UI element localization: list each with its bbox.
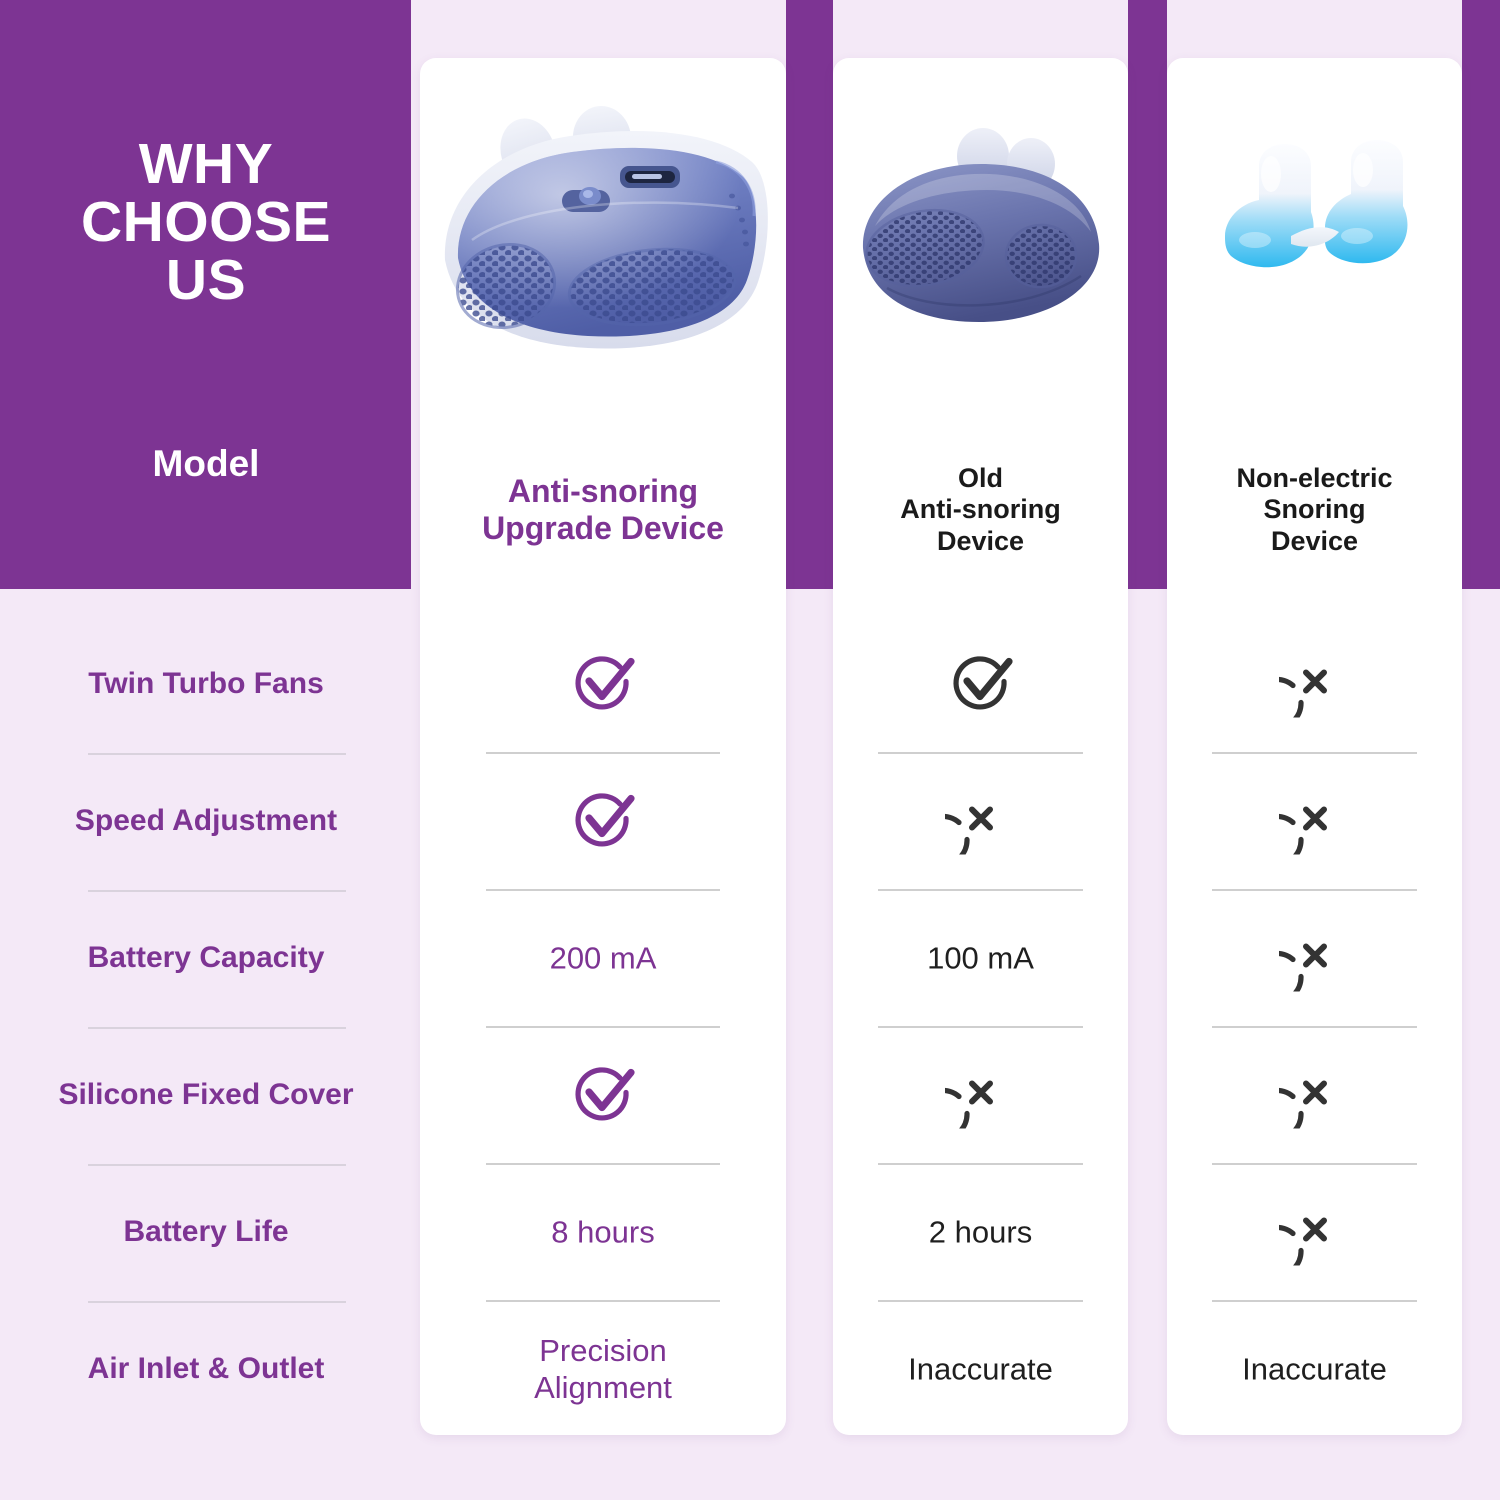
cell-old-3 xyxy=(833,1057,1128,1134)
page-title-line-3: US xyxy=(30,251,382,309)
cell-value-line: Inaccurate xyxy=(833,1350,1128,1387)
cell-upgrade-4: 8 hours xyxy=(420,1213,786,1250)
header-gutter-3 xyxy=(1462,0,1500,589)
cell-value-text: Inaccurate xyxy=(1167,1350,1462,1387)
header-gutter-2 xyxy=(1128,0,1167,589)
feature-row-separator xyxy=(88,890,346,892)
cell-old-4: 2 hours xyxy=(833,1213,1128,1250)
cross-circle-icon xyxy=(945,783,1017,855)
card-row-separator xyxy=(1212,1163,1417,1165)
card-row-separator xyxy=(486,1026,720,1028)
card-row-separator xyxy=(1212,752,1417,754)
feature-label-0: Twin Turbo Fans xyxy=(8,667,404,701)
cell-value-line: 100 mA xyxy=(833,939,1128,976)
check-circle-icon xyxy=(567,646,639,718)
card-row-separator xyxy=(878,1300,1083,1302)
product-title-line-1: Non-electric xyxy=(1167,463,1462,494)
row-header-label: Model xyxy=(30,443,382,485)
product-title-nonelectric: Non-electric Snoring Device xyxy=(1167,463,1462,557)
product-title-line-2: Upgrade Device xyxy=(434,510,772,547)
cell-value-text: PrecisionAlignment xyxy=(420,1332,786,1406)
non-electric-snoring-device-photo xyxy=(1167,108,1462,398)
product-column-upgrade: Anti-snoring Upgrade Device 200 mA8 hour… xyxy=(420,58,786,1435)
feature-row-separator xyxy=(88,1027,346,1029)
cell-value-text: Inaccurate xyxy=(833,1350,1128,1387)
card-row-separator xyxy=(878,752,1083,754)
feature-label-2: Battery Capacity xyxy=(8,941,404,975)
cell-value-line: Inaccurate xyxy=(1167,1350,1462,1387)
cell-upgrade-5: PrecisionAlignment xyxy=(420,1332,786,1406)
product-title-old: Old Anti-snoring Device xyxy=(833,463,1128,557)
cell-value-text: 2 hours xyxy=(833,1213,1128,1250)
product-title-line-1: Old xyxy=(833,463,1128,494)
card-row-separator xyxy=(486,1163,720,1165)
feature-row-separator xyxy=(88,1164,346,1166)
cell-value-text: 200 mA xyxy=(420,939,786,976)
product-title-upgrade: Anti-snoring Upgrade Device xyxy=(420,473,786,547)
old-anti-snoring-device-photo xyxy=(833,98,1128,388)
cell-upgrade-1 xyxy=(420,783,786,860)
card-row-separator xyxy=(486,889,720,891)
card-row-separator xyxy=(878,889,1083,891)
card-row-separator xyxy=(486,752,720,754)
cell-old-0 xyxy=(833,646,1128,723)
cell-value-line: 8 hours xyxy=(420,1213,786,1250)
feature-label-3: Silicone Fixed Cover xyxy=(8,1078,404,1112)
product-column-nonelectric: Non-electric Snoring Device Inaccurate xyxy=(1167,58,1462,1435)
cross-circle-icon xyxy=(1279,920,1351,992)
cell-value-line: Alignment xyxy=(420,1369,786,1406)
feature-label-1: Speed Adjustment xyxy=(8,804,404,838)
cross-circle-icon xyxy=(945,1057,1017,1129)
page-title: WHY CHOOSE US xyxy=(30,135,382,309)
cell-upgrade-3 xyxy=(420,1057,786,1134)
cell-old-1 xyxy=(833,783,1128,860)
card-row-separator xyxy=(1212,1300,1417,1302)
product-title-line-3: Device xyxy=(833,526,1128,557)
feature-row-separator xyxy=(88,1301,346,1303)
feature-row-separator xyxy=(88,753,346,755)
cross-circle-icon xyxy=(1279,783,1351,855)
product-column-old: Old Anti-snoring Device 100 mA2 hoursIna… xyxy=(833,58,1128,1435)
product-title-line-2: Snoring xyxy=(1167,494,1462,525)
cell-nonelectric-1 xyxy=(1167,783,1462,860)
card-row-separator xyxy=(878,1026,1083,1028)
product-title-line-1: Anti-snoring xyxy=(434,473,772,510)
check-circle-icon xyxy=(945,646,1017,718)
cell-upgrade-2: 200 mA xyxy=(420,939,786,976)
cell-value-text: 8 hours xyxy=(420,1213,786,1250)
page-title-line-2: CHOOSE xyxy=(30,193,382,251)
anti-snoring-upgrade-device-photo xyxy=(420,90,786,380)
cell-value-line: Precision xyxy=(420,1332,786,1369)
comparison-infographic: WHY CHOOSE US Model xyxy=(0,0,1500,1500)
cross-circle-icon xyxy=(1279,646,1351,718)
feature-label-5: Air Inlet & Outlet xyxy=(8,1352,404,1386)
cell-nonelectric-2 xyxy=(1167,920,1462,997)
header-gutter-1 xyxy=(786,0,833,589)
cell-nonelectric-0 xyxy=(1167,646,1462,723)
cell-nonelectric-3 xyxy=(1167,1057,1462,1134)
check-circle-icon xyxy=(567,1057,639,1129)
card-row-separator xyxy=(878,1163,1083,1165)
cell-old-2: 100 mA xyxy=(833,939,1128,976)
cell-nonelectric-4 xyxy=(1167,1194,1462,1271)
check-circle-icon xyxy=(567,783,639,855)
cell-old-5: Inaccurate xyxy=(833,1350,1128,1387)
cell-nonelectric-5: Inaccurate xyxy=(1167,1350,1462,1387)
product-title-line-2: Anti-snoring xyxy=(833,494,1128,525)
cross-circle-icon xyxy=(1279,1057,1351,1129)
cell-value-line: 200 mA xyxy=(420,939,786,976)
cell-upgrade-0 xyxy=(420,646,786,723)
cell-value-line: 2 hours xyxy=(833,1213,1128,1250)
page-title-line-1: WHY xyxy=(30,135,382,193)
cell-value-text: 100 mA xyxy=(833,939,1128,976)
feature-label-4: Battery Life xyxy=(8,1215,404,1249)
cross-circle-icon xyxy=(1279,1194,1351,1266)
card-row-separator xyxy=(486,1300,720,1302)
product-title-line-3: Device xyxy=(1167,526,1462,557)
card-row-separator xyxy=(1212,1026,1417,1028)
card-row-separator xyxy=(1212,889,1417,891)
